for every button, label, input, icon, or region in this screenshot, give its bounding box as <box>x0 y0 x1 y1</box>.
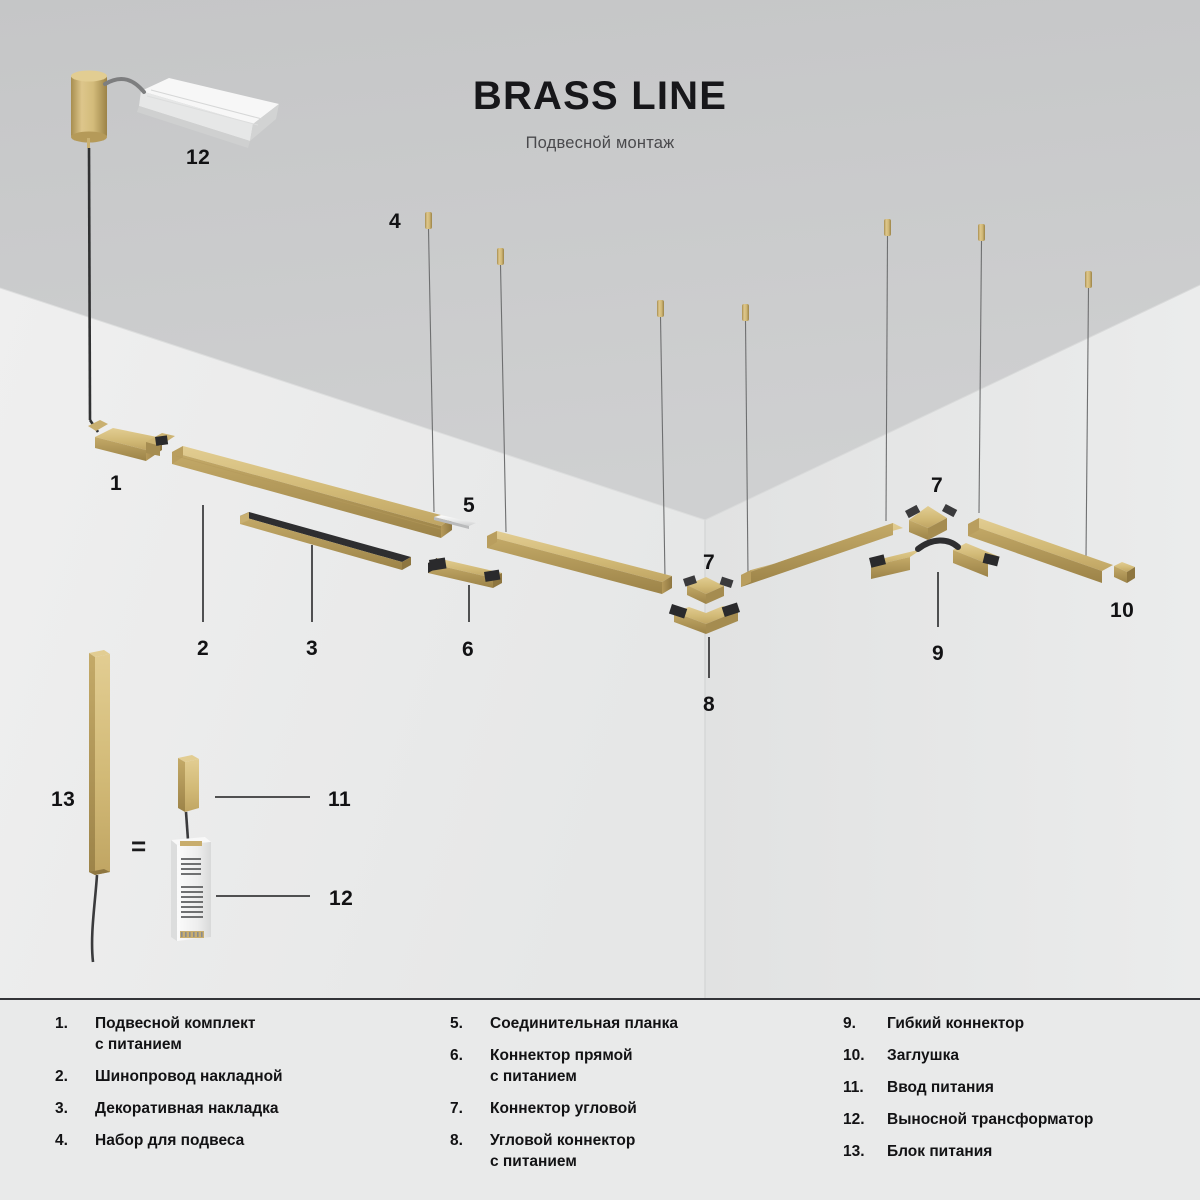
callout-number-5: 5 <box>463 495 475 516</box>
legend-item-number: 13. <box>843 1142 887 1163</box>
legend-item-number: 10. <box>843 1046 887 1067</box>
legend-item: 6.Коннектор прямой с питанием <box>450 1046 830 1088</box>
legend-item-label: Подвесной комплект с питанием <box>95 1014 256 1056</box>
legend-item: 9.Гибкий коннектор <box>843 1014 1193 1035</box>
title-block: BRASS LINE Подвесной монтаж <box>0 76 1200 153</box>
legend-columns: 1.Подвесной комплект с питанием2.Шинопро… <box>0 1000 1200 1200</box>
legend-panel: 1.Подвесной комплект с питанием2.Шинопро… <box>0 998 1200 1200</box>
legend-column-3: 9.Гибкий коннектор10.Заглушка11.Ввод пит… <box>843 1014 1193 1174</box>
callout-number-8: 8 <box>703 694 715 715</box>
legend-item-number: 7. <box>450 1099 490 1120</box>
legend-item-label: Шинопровод накладной <box>95 1067 283 1088</box>
callout-number-2: 2 <box>197 638 209 659</box>
callout-number-12top: 12 <box>186 147 210 168</box>
legend-item-number: 4. <box>55 1131 95 1152</box>
callout-number-3: 3 <box>306 638 318 659</box>
legend-item-number: 1. <box>55 1014 95 1035</box>
legend-item-number: 11. <box>843 1078 887 1099</box>
legend-item-label: Набор для подвеса <box>95 1131 244 1152</box>
page-root: BRASS LINE Подвесной монтаж 123456787910… <box>0 0 1200 1200</box>
legend-item-label: Заглушка <box>887 1046 959 1067</box>
legend-item-label: Угловой коннектор с питанием <box>490 1131 635 1173</box>
callout-number-7b: 7 <box>931 475 943 496</box>
legend-item-label: Коннектор прямой с питанием <box>490 1046 633 1088</box>
legend-item-label: Выносной трансформатор <box>887 1110 1093 1131</box>
legend-item-number: 8. <box>450 1131 490 1152</box>
legend-item-label: Соединительная планка <box>490 1014 678 1035</box>
part-12-transformer-box <box>171 837 211 941</box>
page-title: BRASS LINE <box>0 76 1200 116</box>
legend-item: 3.Декоративная накладка <box>55 1099 415 1120</box>
legend-item-number: 3. <box>55 1099 95 1120</box>
legend-column-2: 5.Соединительная планка6.Коннектор прямо… <box>450 1014 830 1184</box>
legend-item: 12.Выносной трансформатор <box>843 1110 1193 1131</box>
legend-item-label: Декоративная накладка <box>95 1099 279 1120</box>
callout-number-1: 1 <box>110 473 122 494</box>
legend-item-number: 6. <box>450 1046 490 1067</box>
legend-item: 7.Коннектор угловой <box>450 1099 830 1120</box>
legend-item-number: 9. <box>843 1014 887 1035</box>
legend-item-number: 2. <box>55 1067 95 1088</box>
callout-number-13: 13 <box>51 789 75 810</box>
legend-item: 1.Подвесной комплект с питанием <box>55 1014 415 1056</box>
product-diagram-scene: BRASS LINE Подвесной монтаж 123456787910… <box>0 0 1200 998</box>
callout-number-6: 6 <box>462 639 474 660</box>
callout-number-11: 11 <box>328 789 351 810</box>
callout-number-9: 9 <box>932 643 944 664</box>
callout-number-4: 4 <box>389 211 401 232</box>
legend-item: 4.Набор для подвеса <box>55 1131 415 1152</box>
legend-column-1: 1.Подвесной комплект с питанием2.Шинопро… <box>55 1014 415 1163</box>
legend-item-label: Блок питания <box>887 1142 992 1163</box>
callout-number-7a: 7 <box>703 552 715 573</box>
callout-number-10: 10 <box>1110 600 1134 621</box>
legend-item: 5.Соединительная планка <box>450 1014 830 1035</box>
page-subtitle: Подвесной монтаж <box>0 134 1200 153</box>
callout-number-12: 12 <box>329 888 353 909</box>
legend-item-label: Коннектор угловой <box>490 1099 637 1120</box>
legend-item: 8.Угловой коннектор с питанием <box>450 1131 830 1173</box>
legend-item-number: 5. <box>450 1014 490 1035</box>
legend-item-number: 12. <box>843 1110 887 1131</box>
legend-item: 10.Заглушка <box>843 1046 1193 1067</box>
legend-item: 11.Ввод питания <box>843 1078 1193 1099</box>
legend-item-label: Ввод питания <box>887 1078 994 1099</box>
legend-item: 13.Блок питания <box>843 1142 1193 1163</box>
legend-item-label: Гибкий коннектор <box>887 1014 1024 1035</box>
equals-sign: = <box>131 833 146 859</box>
legend-item: 2.Шинопровод накладной <box>55 1067 415 1088</box>
